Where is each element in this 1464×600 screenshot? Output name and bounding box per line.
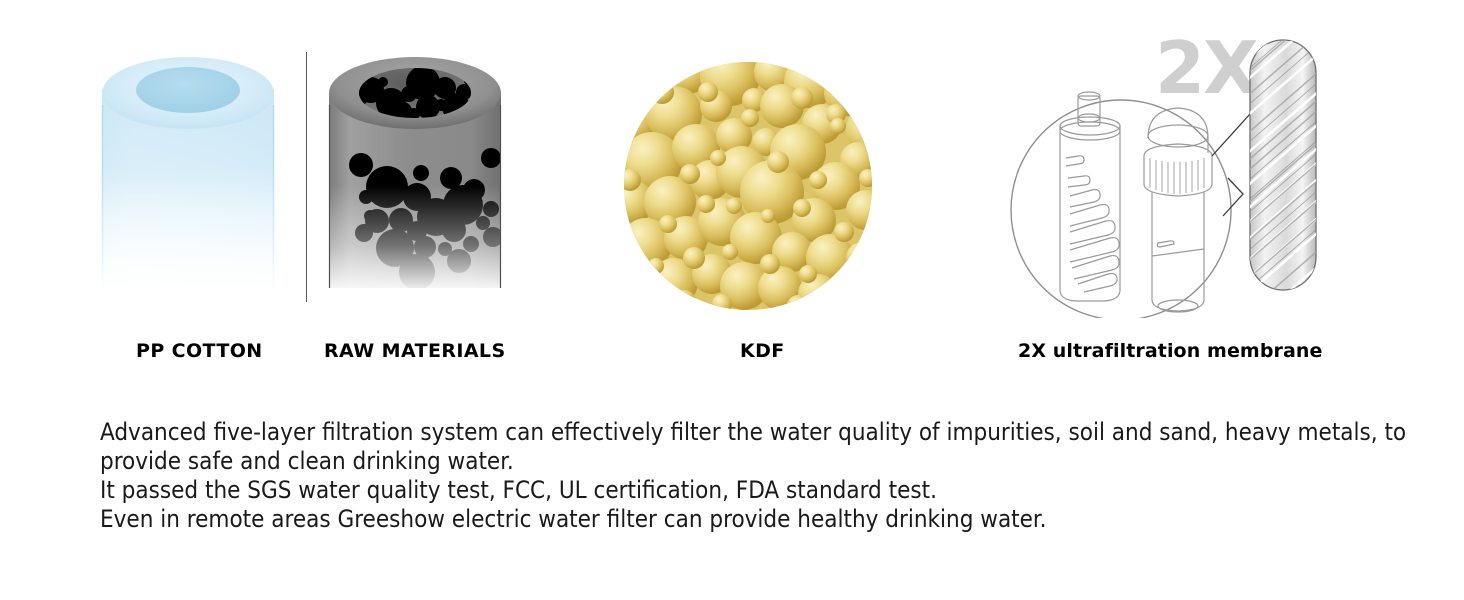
membrane-graphic: 2X	[1000, 18, 1345, 318]
panel-divider	[306, 52, 307, 302]
badge-2x-text: 2X	[1155, 26, 1258, 110]
raw-materials-cylinder-svg	[325, 45, 525, 310]
kdf-graphic	[622, 62, 897, 310]
caption-pp-cotton: PP COTTON	[136, 340, 263, 362]
caption-raw-materials: RAW MATERIALS	[324, 340, 506, 362]
product-graphics-row: 2X	[0, 0, 1464, 330]
pp-cotton-cylinder-svg	[100, 45, 300, 310]
membrane-lineart-svg: 2X	[1000, 18, 1345, 318]
cartridge-right	[1144, 108, 1212, 312]
magnifier-circle	[1011, 100, 1231, 318]
pp-cotton-graphic	[100, 45, 300, 310]
description-line-2: It passed the SGS water quality test, FC…	[100, 476, 1430, 505]
description-line-3: Even in remote areas Greeshow electric w…	[100, 505, 1430, 534]
raw-materials-graphic	[325, 45, 525, 310]
description-line-1: Advanced five-layer filtration system ca…	[100, 418, 1430, 476]
fiber-bundle	[1236, 18, 1336, 318]
caption-membrane: 2X ultrafiltration membrane	[1018, 340, 1323, 362]
captions-row: PP COTTON RAW MATERIALS KDF 2X ultrafilt…	[0, 340, 1464, 370]
cartridge-left	[1060, 92, 1120, 301]
caption-kdf: KDF	[740, 340, 785, 362]
description-text-block: Advanced five-layer filtration system ca…	[100, 418, 1430, 534]
kdf-sphere-cluster-svg	[622, 62, 897, 310]
